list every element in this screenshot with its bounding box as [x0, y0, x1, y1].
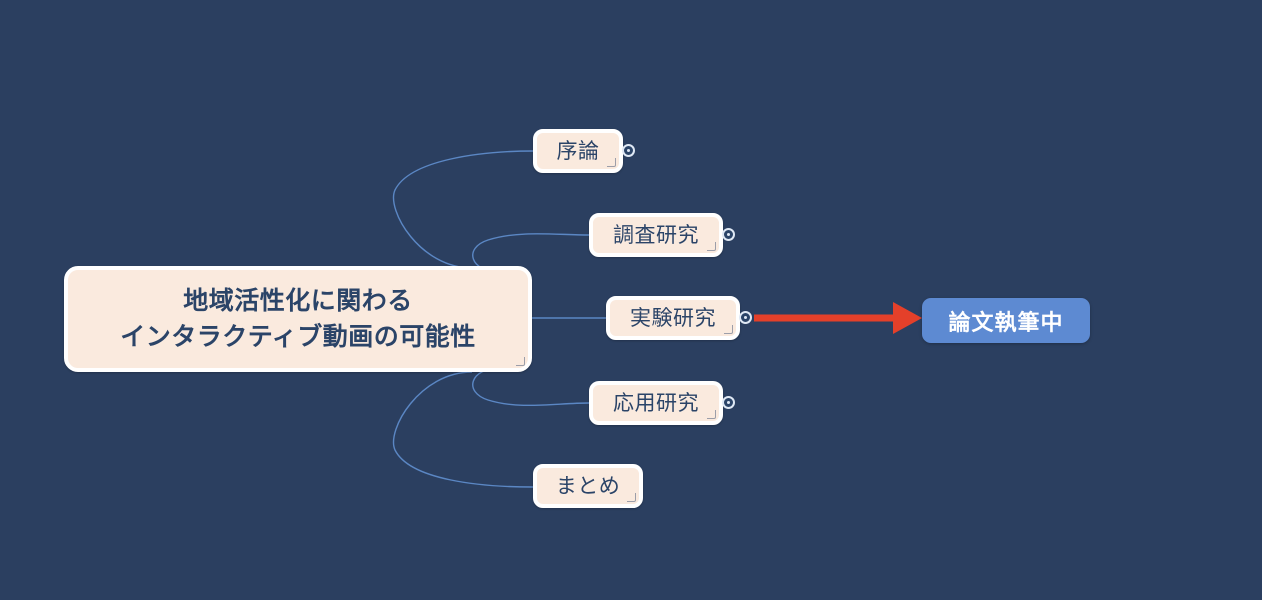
expand-dot-icon-oyo-kenkyu[interactable] [722, 396, 735, 409]
connector-to-まとめ [394, 372, 533, 487]
root-node-label: 地域活性化に関わる インタラクティブ動画の可能性 [120, 283, 476, 356]
resize-handle-icon[interactable] [516, 357, 525, 366]
connector-to-序論 [394, 151, 533, 268]
resize-handle-icon[interactable] [607, 158, 616, 167]
resize-handle-icon[interactable] [724, 325, 733, 334]
mindmap-root-node[interactable]: 地域活性化に関わる インタラクティブ動画の可能性 [64, 266, 532, 372]
node-label: まとめ [556, 472, 621, 500]
status-badge[interactable]: 論文執筆中 [922, 298, 1090, 343]
mindmap-node-jikken-kenkyu[interactable]: 実験研究 [606, 296, 740, 340]
mindmap-canvas[interactable]: 地域活性化に関わる インタラクティブ動画の可能性 序論 調査研究 実験研究 応用… [0, 0, 1262, 600]
expand-dot-icon-jyoron[interactable] [622, 144, 635, 157]
status-badge-label: 論文執筆中 [948, 305, 1063, 337]
expand-dot-icon-chosa-kenkyu[interactable] [722, 228, 735, 241]
mindmap-node-jyoron[interactable]: 序論 [533, 129, 623, 173]
node-label: 序論 [557, 137, 600, 165]
resize-handle-icon[interactable] [707, 242, 716, 251]
mindmap-node-matome[interactable]: まとめ [533, 464, 643, 508]
mindmap-node-chosa-kenkyu[interactable]: 調査研究 [589, 213, 723, 257]
expand-dot-icon-jikken-kenkyu[interactable] [739, 311, 752, 324]
resize-handle-icon[interactable] [707, 410, 716, 419]
right-arrow-icon [754, 302, 922, 334]
mindmap-node-oyo-kenkyu[interactable]: 応用研究 [589, 381, 723, 425]
connector-to-応用研究 [473, 368, 589, 405]
resize-handle-icon[interactable] [627, 493, 636, 502]
node-label: 応用研究 [613, 389, 699, 417]
node-label: 実験研究 [630, 304, 716, 332]
node-label: 調査研究 [613, 221, 699, 249]
